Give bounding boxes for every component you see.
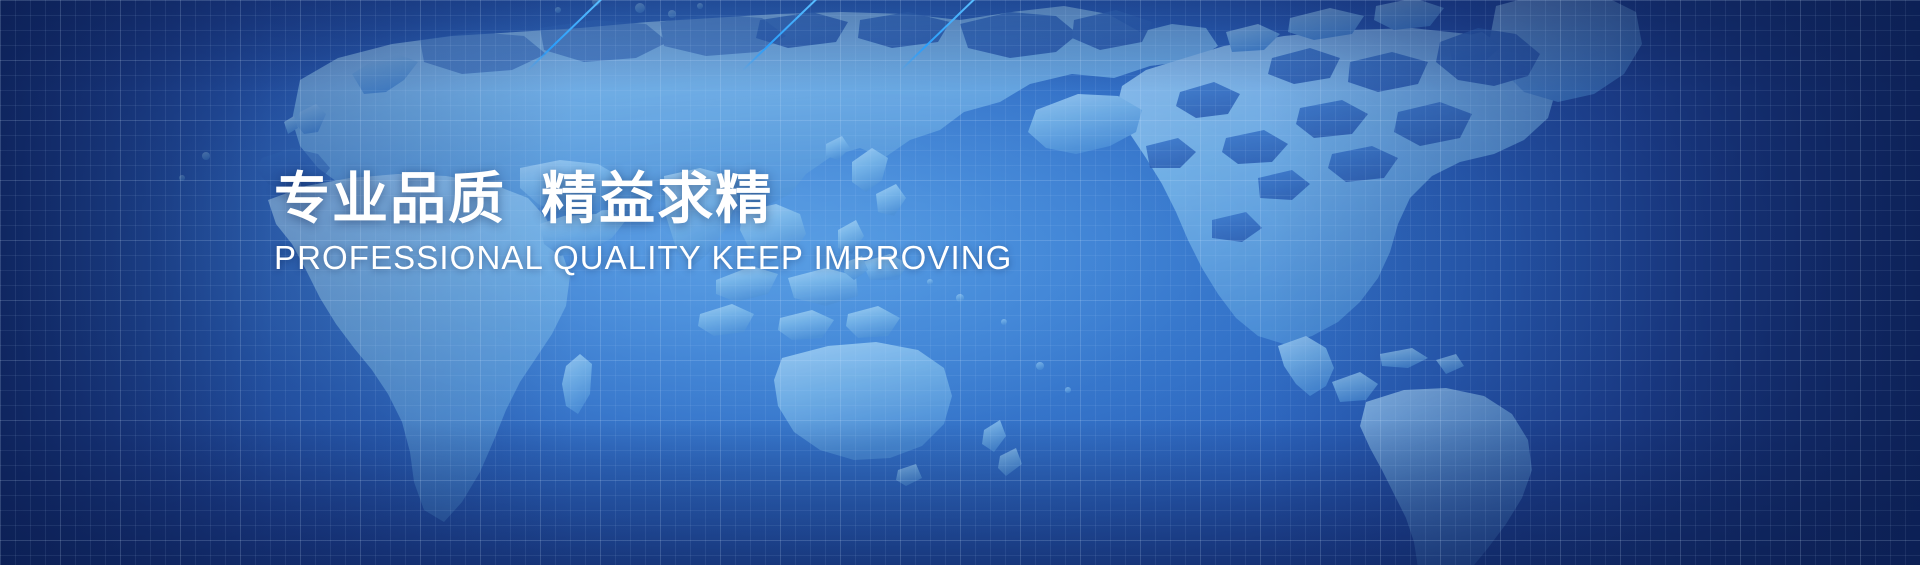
hero-copy: 专业品质 精益求精 PROFESSIONAL QUALITY KEEP IMPR…	[274, 168, 1012, 278]
hero-subheadline-en: PROFESSIONAL QUALITY KEEP IMPROVING	[274, 238, 1012, 278]
hero-banner: 专业品质 精益求精 PROFESSIONAL QUALITY KEEP IMPR…	[0, 0, 1920, 565]
grid-overlay-major	[0, 0, 1920, 565]
hero-headline-cn: 专业品质 精益求精	[274, 168, 1012, 230]
